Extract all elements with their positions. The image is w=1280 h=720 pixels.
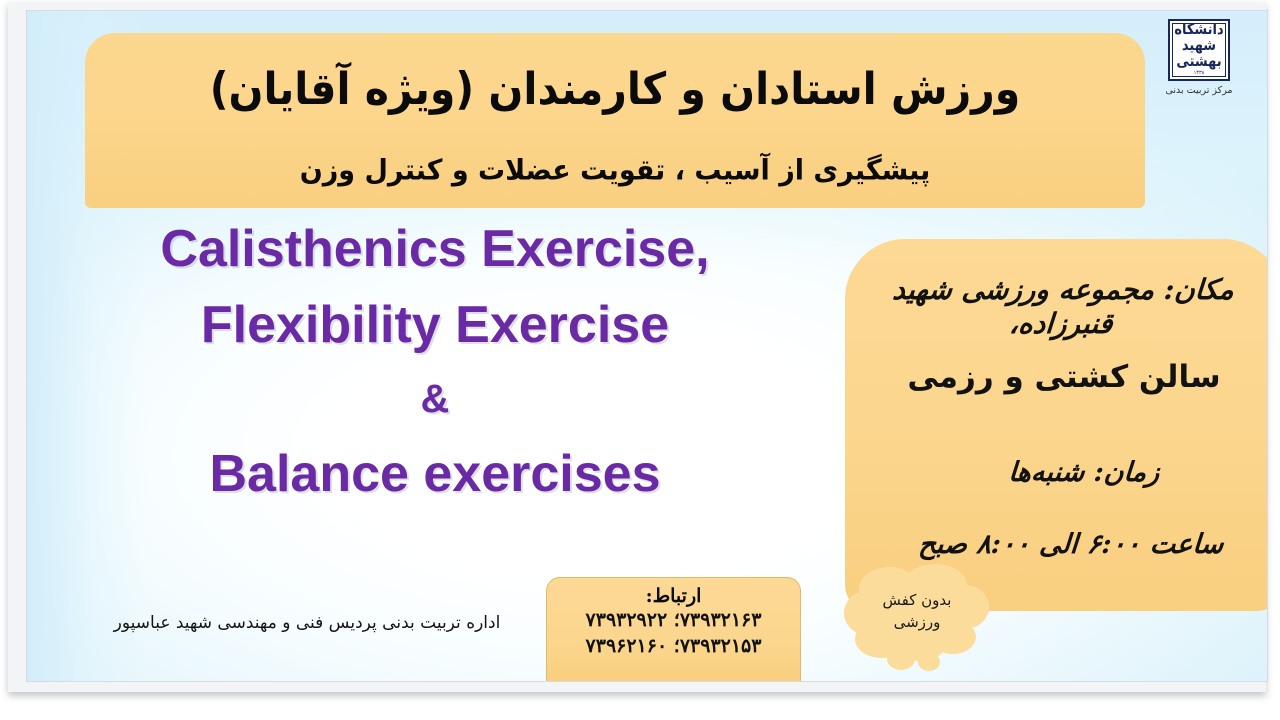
cloud-callout: بدون کفش ورزشی [843,563,991,675]
cloud-text: بدون کفش ورزشی [843,589,991,633]
info-hall: سالن کشتی و رزمی [857,359,1268,395]
cloud-line-2: ورزشی [843,611,991,633]
contact-title: ارتباط: [547,585,800,607]
poster-subtitle: پیشگیری از آسیب ، تقویت عضلات و کنترل وز… [85,154,1145,188]
logo-caption: مرکز تربیت بدنی [1147,85,1251,96]
slide-content-area: ورزش استادان و کارمندان (ویژه آقایان) پی… [26,10,1268,682]
contact-phones-line-1: ۷۳۹۳۲۱۶۳؛ ۷۳۹۳۲۹۲۲ [547,607,800,633]
english-line-4: Balance exercises [35,435,835,513]
university-logo: دانشگاه شهید بهشتی ۱۳۳۸ مرکز تربیت بدنی [1147,19,1251,96]
english-ampersand: & [35,363,835,435]
english-headline: Calisthenics Exercise, Flexibility Exerc… [35,211,835,513]
contact-phones-line-2: ۷۳۹۳۲۱۵۳؛ ۷۳۹۶۲۱۶۰ [547,633,800,659]
emblem-line-1: دانشگاه [1173,23,1225,39]
english-line-2: Flexibility Exercise [35,287,835,363]
info-place: مکان: مجموعه ورزشی شهید قنبرزاده، [853,273,1268,341]
info-card: مکان: مجموعه ورزشی شهید قنبرزاده، سالن ک… [845,239,1268,611]
cloud-line-1: بدون کفش [843,589,991,611]
contact-card: ارتباط: ۷۳۹۳۲۱۶۳؛ ۷۳۹۳۲۹۲۲ ۷۳۹۳۲۱۵۳؛ ۷۳۹… [546,577,801,682]
title-card: ورزش استادان و کارمندان (ویژه آقایان) پی… [85,33,1145,208]
poster-canvas: ورزش استادان و کارمندان (ویژه آقایان) پی… [0,0,1280,720]
emblem-inner-frame: دانشگاه شهید بهشتی ۱۳۳۸ [1172,23,1226,77]
english-line-1: Calisthenics Exercise, [35,211,835,287]
poster-title: ورزش استادان و کارمندان (ویژه آقایان) [85,63,1145,115]
university-emblem-icon: دانشگاه شهید بهشتی ۱۳۳۸ [1168,19,1230,81]
emblem-script: دانشگاه شهید بهشتی [1173,23,1225,77]
footer-department: اداره تربیت بدنی پردیس فنی و مهندسی شهید… [97,613,517,633]
slide-shadow-frame: ورزش استادان و کارمندان (ویژه آقایان) پی… [8,2,1266,692]
emblem-line-2: شهید [1173,39,1225,55]
emblem-year: ۱۳۳۸ [1173,70,1225,76]
info-day: زمان: شنبه‌ها [904,457,1264,488]
emblem-line-3: بهشتی [1173,55,1225,71]
info-hours: ساعت ۶:۰۰ الی ۸:۰۰ صبح [874,529,1268,560]
